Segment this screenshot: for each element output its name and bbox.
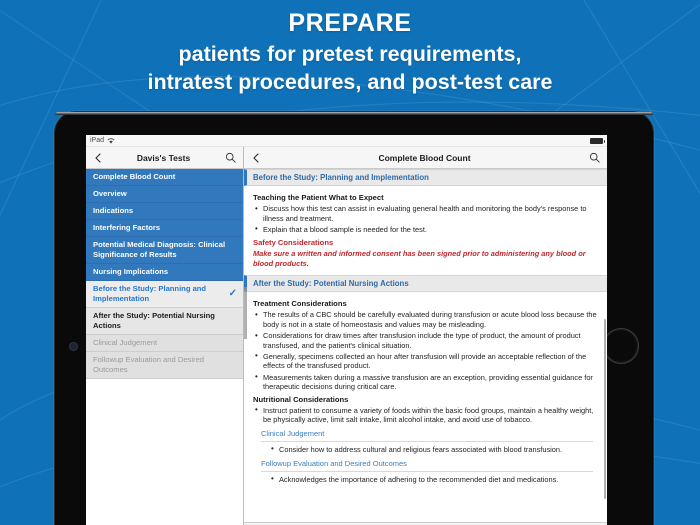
front-camera-icon: [70, 343, 77, 350]
nutritional-bullet-list: Instruct patient to consume a variety of…: [253, 406, 597, 425]
page-title: Complete Blood Count: [261, 153, 588, 163]
vertical-scrollbar[interactable]: [604, 319, 606, 499]
heading-clinical-judgement[interactable]: Clinical Judgement: [261, 429, 597, 438]
content-scroll-indicator[interactable]: [244, 287, 247, 339]
device-top-gloss: [55, 112, 653, 115]
toc-item-label: After the Study: Potential Nursing Actio…: [93, 311, 215, 330]
toc-item-label: Followup Evaluation and Desired Outcomes: [93, 355, 204, 374]
treatment-bullet-list: The results of a CBC should be carefully…: [253, 310, 597, 391]
section-header-after-the-study: After the Study: Potential Nursing Actio…: [244, 275, 607, 292]
content-pane: Complete Blood Count Before the Study: P…: [244, 147, 607, 525]
search-icon[interactable]: [588, 151, 601, 164]
list-item: Explain that a blood sample is needed fo…: [253, 225, 597, 235]
toc-item-label: Before the Study: Planning and Implement…: [93, 284, 206, 303]
heading-followup-evaluation[interactable]: Followup Evaluation and Desired Outcomes: [261, 459, 597, 468]
heading-safety-considerations: Safety Considerations: [253, 238, 597, 247]
content-navbar: Complete Blood Count: [244, 147, 607, 169]
divider: [261, 471, 593, 472]
ipad-screen: iPad: [86, 135, 607, 525]
heading-treatment-considerations: Treatment Considerations: [253, 299, 597, 308]
toc-item-after-the-study[interactable]: After the Study: Potential Nursing Actio…: [86, 308, 243, 335]
promo-headline-block: PREPARE patients for pretest requirement…: [0, 6, 700, 96]
teaching-bullet-list: Discuss how this test can assist in eval…: [253, 204, 597, 234]
toc-item-followup-evaluation[interactable]: Followup Evaluation and Desired Outcomes: [86, 352, 243, 379]
promo-screenshot: PREPARE patients for pretest requirement…: [0, 0, 700, 525]
list-item: Acknowledges the importance of adhering …: [269, 475, 597, 485]
promo-kicker: PREPARE: [0, 6, 700, 40]
toc-item-label: Indications: [93, 206, 133, 215]
status-carrier-label: iPad: [90, 137, 104, 144]
search-icon[interactable]: [224, 151, 237, 164]
section-header-before-the-study: Before the Study: Planning and Implement…: [244, 169, 607, 186]
toc-item-label: Overview: [93, 189, 127, 198]
toc-navbar: Davis's Tests: [86, 147, 243, 169]
toc-item-complete-blood-count[interactable]: Complete Blood Count: [86, 169, 243, 186]
list-item: Considerations for draw times after tran…: [253, 331, 597, 350]
toc-item-label: Potential Medical Diagnosis: Clinical Si…: [93, 240, 225, 259]
promo-subline-2: intratest procedures, and post-test care: [0, 69, 700, 96]
toc-item-potential-medical-diagnosis[interactable]: Potential Medical Diagnosis: Clinical Si…: [86, 237, 243, 264]
list-item: The results of a CBC should be carefully…: [253, 310, 597, 329]
heading-nutritional-considerations: Nutritional Considerations: [253, 395, 597, 404]
battery-full-icon: [590, 138, 603, 144]
chevron-left-icon[interactable]: [250, 152, 261, 163]
toc-item-label: Clinical Judgement: [93, 338, 157, 347]
list-item: Measurements taken during a massive tran…: [253, 373, 597, 392]
toc-item-nursing-implications[interactable]: Nursing Implications: [86, 264, 243, 281]
promo-subline-1: patients for pretest requirements,: [0, 41, 700, 68]
clinical-judgement-bullet-list: Consider how to address cultural and rel…: [269, 445, 597, 455]
toc-item-clinical-judgement[interactable]: Clinical Judgement: [86, 335, 243, 352]
section-body-after-the-study: Treatment Considerations The results of …: [244, 292, 607, 490]
heading-teaching-the-patient: Teaching the Patient What to Expect: [253, 193, 597, 202]
home-button[interactable]: [603, 328, 639, 364]
section-body-before-the-study: Teaching the Patient What to Expect Disc…: [244, 186, 607, 275]
toc-item-overview[interactable]: Overview: [86, 186, 243, 203]
toc-title: Davis's Tests: [103, 153, 224, 163]
safety-warning-text: Make sure a written and informed consent…: [253, 249, 597, 268]
divider: [261, 441, 593, 442]
toc-list: Complete Blood Count Overview Indication…: [86, 169, 243, 525]
toc-item-label: Complete Blood Count: [93, 172, 175, 181]
followup-bullet-list: Acknowledges the importance of adhering …: [269, 475, 597, 485]
toc-pane: Davis's Tests Complete Blood Count: [86, 147, 244, 525]
list-item: Consider how to address cultural and rel…: [269, 445, 597, 455]
toc-item-label: Nursing Implications: [93, 267, 168, 276]
ipad-device: iPad: [54, 111, 654, 525]
wifi-icon: [107, 137, 115, 144]
toc-item-interfering-factors[interactable]: Interfering Factors: [86, 220, 243, 237]
toc-item-before-the-study[interactable]: Before the Study: Planning and Implement…: [86, 281, 243, 308]
toc-item-indications[interactable]: Indications: [86, 203, 243, 220]
toc-item-label: Interfering Factors: [93, 223, 160, 232]
split-view: Davis's Tests Complete Blood Count: [86, 147, 607, 525]
list-item: Generally, specimens collected an hour a…: [253, 352, 597, 371]
checkmark-icon: ✓: [229, 289, 237, 299]
chevron-left-icon[interactable]: [92, 152, 103, 163]
content-scroll-area[interactable]: Before the Study: Planning and Implement…: [244, 169, 607, 522]
status-bar: iPad: [86, 135, 607, 147]
list-item: Discuss how this test can assist in eval…: [253, 204, 597, 223]
list-item: Instruct patient to consume a variety of…: [253, 406, 597, 425]
